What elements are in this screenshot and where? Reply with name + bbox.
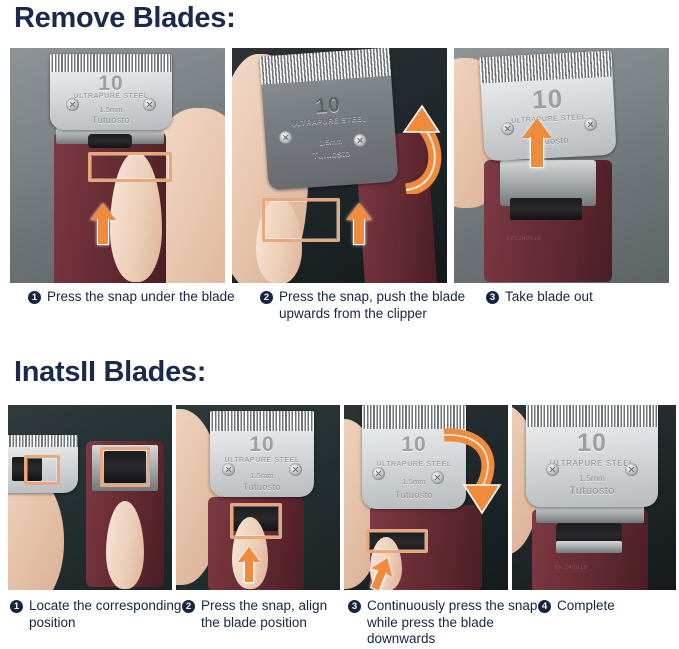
blade-number: 10: [50, 72, 172, 96]
blade-number: 10: [481, 81, 614, 119]
caption-text: Press the snap, align the blade position: [201, 598, 348, 631]
photo-remove-step-3: V81240618 10 ULTRAPURE STEEL Tutuosto: [454, 48, 669, 283]
arrow-up-icon: [238, 547, 260, 583]
blade-teeth: [50, 54, 172, 72]
step-badge-2: 2: [182, 600, 195, 613]
photo-install-step-1: [8, 405, 172, 590]
step-badge-1: 1: [10, 600, 23, 613]
remove-blades-captions: 1 Press the snap under the blade 2 Press…: [28, 289, 679, 322]
blade-screw-right: [143, 98, 156, 111]
blade-brand-label: Tutuosto: [50, 115, 172, 125]
caption-remove-step-2: 2 Press the snap, push the blade upwards…: [260, 289, 486, 322]
arrow-up-icon: [522, 118, 552, 168]
highlight-box-clipper-socket: [100, 447, 150, 487]
photo-install-step-2: 10 ULTRAPURE STEEL 1.5mm Tutuosto: [176, 405, 340, 590]
blade-screw-left: [66, 98, 79, 111]
caption-text: Continuously press the snap while press …: [367, 598, 538, 648]
arrow-up-icon: [90, 203, 116, 245]
arrow-up-icon: [346, 203, 372, 245]
caption-install-step-1: 1 Locate the corresponding position: [10, 598, 182, 648]
curved-arrow-up-icon: [382, 102, 446, 194]
remove-blades-title: Remove Blades:: [14, 4, 235, 33]
blade-number: 10: [210, 433, 314, 457]
blade-brand-label: Tutuosto: [210, 482, 314, 492]
blade: 10 ULTRAPURE STEEL 1.5mm Tutuosto: [50, 54, 172, 130]
caption-text: Press the snap under the blade: [47, 289, 260, 306]
caption-remove-step-3: 3 Take blade out: [486, 289, 679, 322]
photo-install-step-4: VA 240618 10 ULTRAPURE STEEL 1.5mm Tutuo…: [512, 405, 676, 590]
curved-arrow-down-icon: [438, 427, 504, 519]
blade-steel-label: ULTRAPURE STEEL: [264, 113, 394, 129]
caption-text: Locate the corresponding position: [29, 598, 182, 631]
remove-blades-photo-strip: 10 ULTRAPURE STEEL 1.5mm Tutuosto 10 ULT…: [10, 48, 669, 283]
blade-screw-left: [222, 463, 235, 476]
snap-latch: [510, 198, 582, 220]
blade-teeth: [479, 51, 612, 84]
photo-remove-step-1: 10 ULTRAPURE STEEL 1.5mm Tutuosto: [10, 48, 225, 283]
photo-install-step-3: 10 ULTRAPURE STEEL 1.5mm Tutuosto: [344, 405, 508, 590]
blade-number: 10: [262, 90, 393, 123]
blade: 10 ULTRAPURE STEEL 1.5mm Tutuosto: [210, 411, 314, 497]
serial-number: V81240618: [506, 236, 541, 242]
blade-brand-label: Tutuosto: [526, 485, 658, 497]
blade-number: 10: [526, 429, 658, 458]
install-blades-captions: 1 Locate the corresponding position 2 Pr…: [10, 598, 679, 648]
step-badge-1: 1: [28, 291, 41, 304]
highlight-box-snap: [230, 503, 282, 539]
blade-teeth: [526, 405, 658, 427]
blade-size-label: 1.5mm: [526, 473, 658, 483]
step-badge-4: 4: [538, 600, 551, 613]
caption-text: Complete: [557, 598, 678, 615]
step-badge-2: 2: [260, 291, 273, 304]
install-blades-photo-strip: 10 ULTRAPURE STEEL 1.5mm Tutuosto 10: [8, 405, 671, 590]
blade-mount: [536, 505, 644, 523]
highlight-box-snap: [88, 152, 172, 182]
blade-screw-right: [625, 463, 638, 476]
blade-screw-right: [584, 117, 598, 131]
blade-teeth: [8, 435, 78, 447]
caption-remove-step-1: 1 Press the snap under the blade: [28, 289, 260, 322]
serial-number: VA 240618: [554, 565, 587, 571]
caption-install-step-2: 2 Press the snap, align the blade positi…: [182, 598, 348, 648]
caption-text: Take blade out: [505, 289, 679, 306]
photo-remove-step-2: 10 ULTRAPURE STEEL 1.5mm Tutuosto: [232, 48, 447, 283]
highlight-box-blade-mount: [24, 455, 60, 485]
blade-screw-left: [372, 467, 385, 480]
blade-screw-left: [546, 463, 559, 476]
blade-brand-label: Tutuosto: [266, 144, 396, 163]
blade: 10 ULTRAPURE STEEL 1.5mm Tutuosto: [259, 48, 398, 190]
highlight-box-snap: [262, 198, 340, 242]
blade-screw-right: [353, 133, 367, 147]
contact-bar: [556, 541, 622, 553]
instruction-sheet: Remove Blades: 10 ULTRAPURE STEEL 1.5mm …: [0, 0, 679, 649]
blade-teeth: [362, 405, 466, 429]
caption-install-step-4: 4 Complete: [538, 598, 678, 648]
snap-latch: [88, 134, 132, 148]
blade-screw-left: [501, 122, 515, 136]
caption-text: Press the snap, push the blade upwards f…: [279, 289, 486, 322]
blade-screw-right: [289, 463, 302, 476]
step-badge-3: 3: [486, 291, 499, 304]
highlight-box-snap: [366, 529, 428, 553]
blade-screw-left: [279, 131, 293, 145]
blade: 10 ULTRAPURE STEEL 1.5mm Tutuosto: [526, 405, 658, 507]
blade-teeth: [259, 48, 391, 85]
blade-teeth: [210, 411, 314, 431]
caption-install-step-3: 3 Continuously press the snap while pres…: [348, 598, 538, 648]
step-badge-3: 3: [348, 600, 361, 613]
install-blades-title: InatsII Blades:: [14, 358, 206, 387]
